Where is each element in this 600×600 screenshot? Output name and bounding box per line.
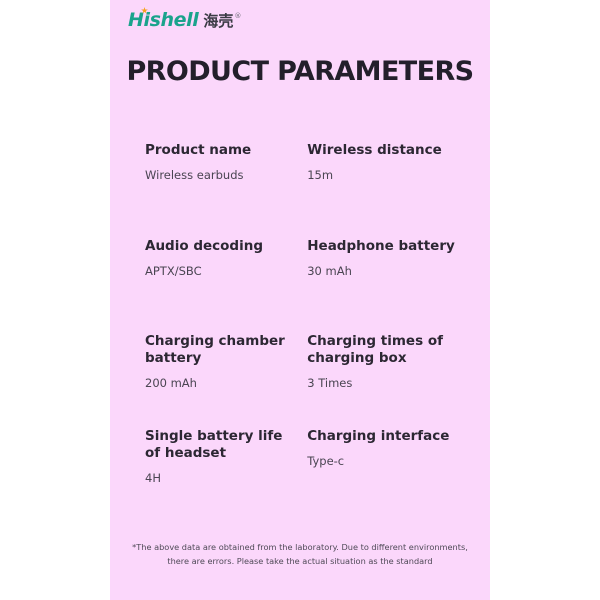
spec-label: Headphone battery	[307, 238, 455, 255]
spec-value: 200 mAh	[145, 376, 299, 391]
spec-label: Product name	[145, 142, 299, 159]
spec-value: APTX/SBC	[145, 264, 299, 279]
logo-wordmark: Hishell	[128, 11, 198, 30]
spec-label: Audio decoding	[145, 238, 299, 255]
disclaimer-footnote: *The above data are obtained from the la…	[126, 540, 474, 569]
spec-row: Charging chamber battery 200 mAh Chargin…	[145, 333, 455, 428]
spec-cell-single-battery-life: Single battery life of headset 4H	[145, 428, 307, 486]
spec-cell-product-name: Product name Wireless earbuds	[145, 142, 307, 183]
spec-value: 4H	[145, 471, 299, 486]
disclaimer-line-1: *The above data are obtained from the la…	[126, 540, 474, 554]
registered-trademark-icon: ®	[234, 13, 241, 20]
spec-value: 15m	[307, 168, 455, 183]
spec-cell-wireless-distance: Wireless distance 15m	[307, 142, 455, 183]
page-title: PRODUCT PARAMETERS	[110, 56, 490, 87]
spec-label: Charging chamber battery	[145, 333, 299, 367]
spec-value: 30 mAh	[307, 264, 455, 279]
spec-value: Wireless earbuds	[145, 168, 299, 183]
spec-cell-charging-chamber-battery: Charging chamber battery 200 mAh	[145, 333, 307, 391]
spec-row: Audio decoding APTX/SBC Headphone batter…	[145, 238, 455, 333]
spec-label: Charging times of charging box	[307, 333, 455, 367]
spec-label: Charging interface	[307, 428, 455, 445]
spec-cell-charging-times: Charging times of charging box 3 Times	[307, 333, 455, 391]
spec-value: 3 Times	[307, 376, 455, 391]
spec-cell-charging-interface: Charging interface Type-c	[307, 428, 455, 469]
product-parameters-page: Hishell 海壳 ® PRODUCT PARAMETERS Product …	[0, 0, 600, 600]
spec-value: Type-c	[307, 454, 455, 469]
logo-chinese-name: 海壳	[203, 14, 233, 29]
spec-sheet-panel: Hishell 海壳 ® PRODUCT PARAMETERS Product …	[110, 0, 490, 600]
disclaimer-line-2: there are errors. Please take the actual…	[126, 554, 474, 568]
spec-label: Wireless distance	[307, 142, 455, 159]
spec-cell-headphone-battery: Headphone battery 30 mAh	[307, 238, 455, 279]
spec-label: Single battery life of headset	[145, 428, 299, 462]
brand-logo: Hishell 海壳 ®	[128, 11, 241, 30]
spec-table: Product name Wireless earbuds Wireless d…	[145, 142, 455, 498]
spec-cell-audio-decoding: Audio decoding APTX/SBC	[145, 238, 307, 279]
spec-row: Single battery life of headset 4H Chargi…	[145, 428, 455, 498]
spec-row: Product name Wireless earbuds Wireless d…	[145, 142, 455, 238]
